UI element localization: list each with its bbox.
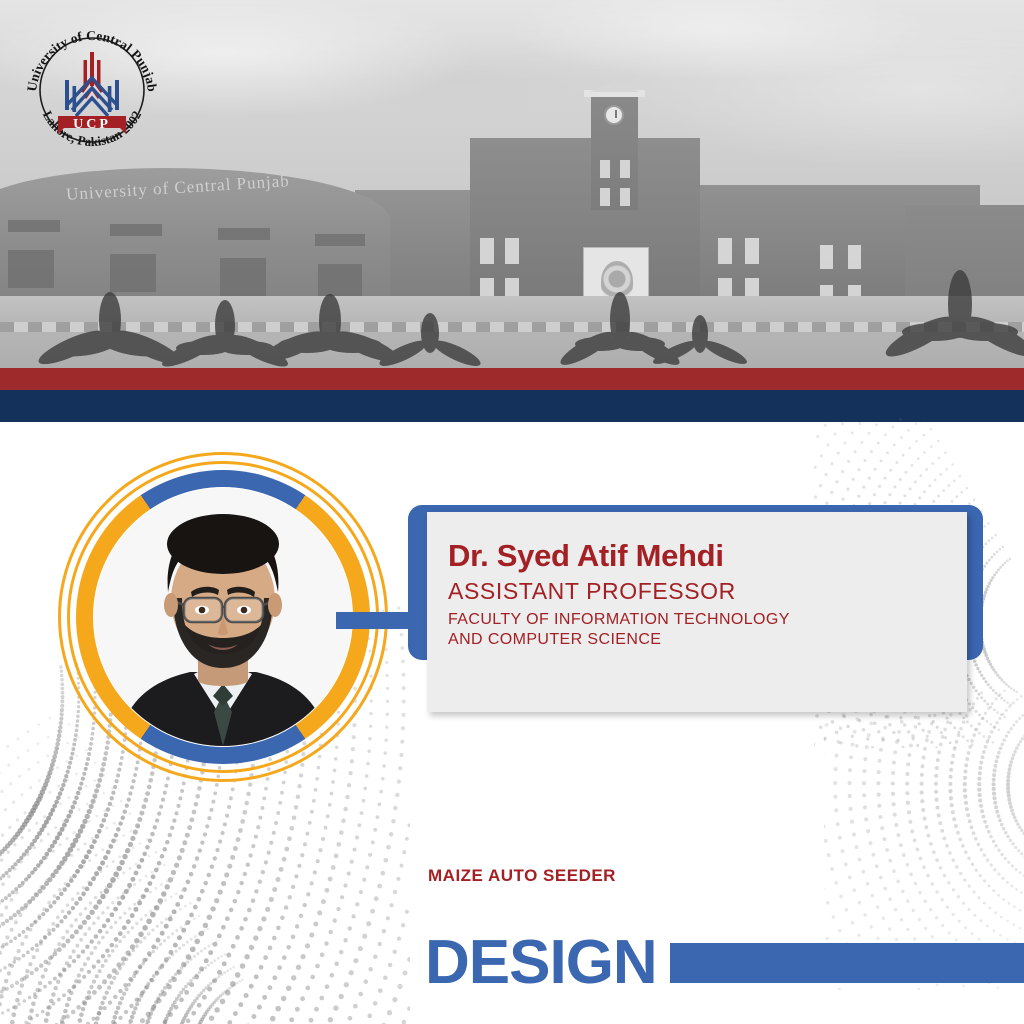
divider-stripe-red [0,368,1024,390]
divider-stripe-navy [0,390,1024,422]
portrait-card-connector [336,612,420,629]
poster-canvas: University of Central Punjab [0,0,1024,1024]
name-card: Dr. Syed Atif Mehdi ASSISTANT PROFESSOR … [427,512,967,712]
project-label: MAIZE AUTO SEEDER [428,866,616,886]
design-headline: DESIGN [425,932,657,994]
faculty-designation: ASSISTANT PROFESSOR [448,578,967,605]
design-accent-bar [670,943,1024,983]
faculty-portrait [94,488,352,746]
faculty-department-line1: FACULTY OF INFORMATION TECHNOLOGY [448,610,967,630]
seal-monogram: UCP [73,117,111,132]
ucp-seal-logo: University of Central Punjab Lahore, Pak… [18,18,166,158]
design-headline-row: DESIGN [425,932,1024,994]
faculty-department-line2: AND COMPUTER SCIENCE [448,630,967,650]
faculty-name: Dr. Syed Atif Mehdi [448,540,967,572]
